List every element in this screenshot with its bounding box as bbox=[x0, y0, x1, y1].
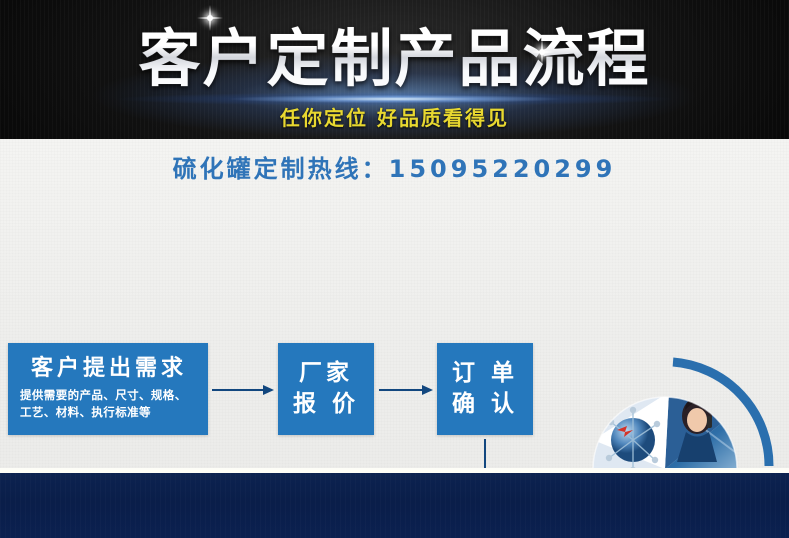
flow-step-order[interactable]: 订 单 确 认 bbox=[437, 343, 533, 435]
flow-step-demand-title: 客户提出需求 bbox=[20, 356, 208, 382]
flow-step-quote-line2: 报 价 bbox=[293, 389, 359, 420]
header-banner: 客户定制产品流程 任你定位 好品质看得见 bbox=[0, 0, 789, 139]
hotline-text: 硫化罐定制热线：15095220299 bbox=[0, 149, 789, 184]
flow-step-order-line1: 订 单 bbox=[452, 358, 518, 389]
arrow-right-icon bbox=[212, 384, 274, 396]
business-photo-collage bbox=[545, 344, 785, 473]
page-title: 客户定制产品流程 bbox=[0, 8, 789, 98]
flow-step-demand-detail-2: 工艺、材料、执行标准等 bbox=[20, 404, 187, 422]
footer-band bbox=[0, 473, 789, 538]
flow-step-quote-line1: 厂家 bbox=[299, 358, 353, 389]
promo-banner: 客户定制产品流程 任你定位 好品质看得见 硫化罐定制热线：15095220299 bbox=[0, 0, 789, 538]
hotline-label: 硫化罐定制热线： bbox=[173, 155, 389, 183]
flow-step-demand[interactable]: 客户提出需求 提供需要的产品、尺寸、规格、 工艺、材料、执行标准等 bbox=[8, 343, 208, 435]
hotline-number: 15095220299 bbox=[389, 155, 617, 183]
flow-step-order-line2: 确 认 bbox=[452, 389, 518, 420]
flow-step-quote[interactable]: 厂家 报 价 bbox=[278, 343, 374, 435]
flow-step-demand-detail-1: 提供需要的产品、尺寸、规格、 bbox=[20, 387, 187, 405]
arrow-right-icon bbox=[379, 384, 433, 396]
collage-graphic bbox=[545, 344, 785, 473]
content-area: 硫化罐定制热线：15095220299 bbox=[0, 139, 789, 473]
page-subtitle: 任你定位 好品质看得见 bbox=[0, 102, 789, 131]
